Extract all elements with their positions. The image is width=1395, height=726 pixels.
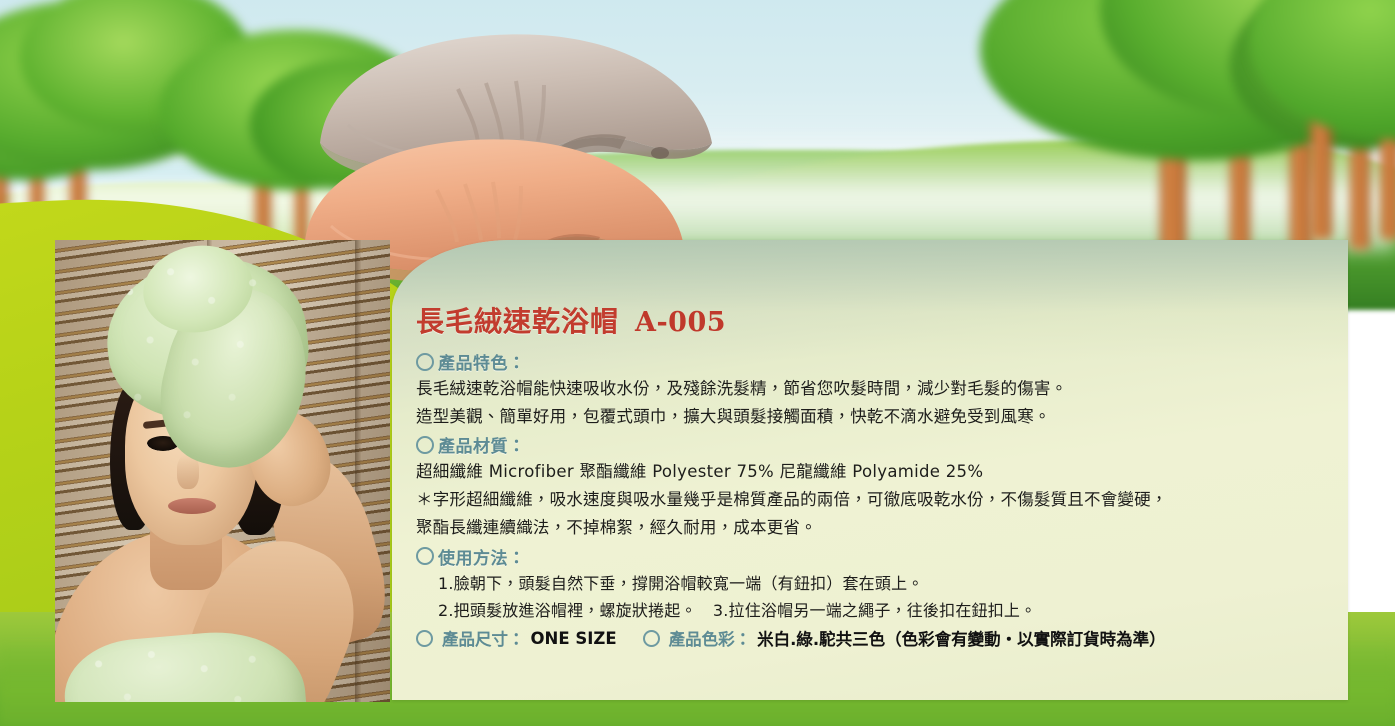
section-heading-usage-label: 使用方法： xyxy=(438,544,526,569)
bullet-ring-icon xyxy=(416,630,433,647)
product-title: 長毛絨速乾浴帽 xyxy=(416,300,619,340)
spec-color-label: 產品色彩： xyxy=(669,626,752,650)
product-code: A-005 xyxy=(635,307,726,338)
feature-line-1: 長毛絨速乾浴帽能快速吸收水份，及殘餘洗髮精，節省您吹髮時間，減少對毛髮的傷害。 xyxy=(416,376,1330,403)
bullet-ring-icon xyxy=(416,547,434,565)
spec-row: 產品尺寸： ONE SIZE 產品色彩： 米白.綠.駝共三色（色彩會有變動・以實… xyxy=(416,626,1330,650)
usage-step-2: 2.把頭髮放進浴帽裡，螺旋狀捲起。 3.拉住浴帽另一端之繩子，往後扣在鈕扣上。 xyxy=(416,598,1330,624)
bullet-ring-icon xyxy=(416,436,434,454)
spec-color-value: 米白.綠.駝共三色（色彩會有變動・以實際訂貨時為準） xyxy=(757,626,1166,650)
product-title-row: 長毛絨速乾浴帽 A-005 xyxy=(416,300,1330,340)
bullet-ring-icon xyxy=(416,353,434,371)
section-heading-usage: 使用方法： xyxy=(416,544,1330,569)
section-heading-material: 產品材質： xyxy=(416,432,1330,457)
advertisement-poster: 長毛絨速乾浴帽 A-005 產品特色： 長毛絨速乾浴帽能快速吸收水份，及殘餘洗髮… xyxy=(0,0,1395,726)
material-composition: 超細纖維 Microfiber 聚酯纖維 Polyester 75% 尼龍纖維 … xyxy=(416,459,1330,486)
bullet-ring-icon xyxy=(643,630,660,647)
usage-step-1: 1.臉朝下，頭髮自然下垂，撐開浴帽較寬一端（有鈕扣）套在頭上。 xyxy=(416,571,1330,597)
tree-far-right-icon xyxy=(1250,0,1395,240)
material-line-1: ＊字形超細纖維，吸水速度與吸水量幾乎是棉質產品的兩倍，可徹底吸乾水份，不傷髮質且… xyxy=(416,487,1330,514)
spec-size-value: ONE SIZE xyxy=(531,629,617,648)
spec-size-label: 產品尺寸： xyxy=(442,626,525,650)
feature-line-2: 造型美觀、簡單好用，包覆式頭巾，擴大與頭髮接觸面積，快乾不滴水避免受到風寒。 xyxy=(416,404,1330,431)
section-heading-material-label: 產品材質： xyxy=(438,432,526,457)
material-line-2: 聚酯長纖連續織法，不掉棉絮，經久耐用，成本更省。 xyxy=(416,515,1330,542)
model-photo xyxy=(55,240,390,702)
section-heading-features: 產品特色： xyxy=(416,349,1330,374)
product-info-panel: 長毛絨速乾浴帽 A-005 產品特色： 長毛絨速乾浴帽能快速吸收水份，及殘餘洗髮… xyxy=(392,240,1348,700)
section-heading-features-label: 產品特色： xyxy=(438,349,526,374)
